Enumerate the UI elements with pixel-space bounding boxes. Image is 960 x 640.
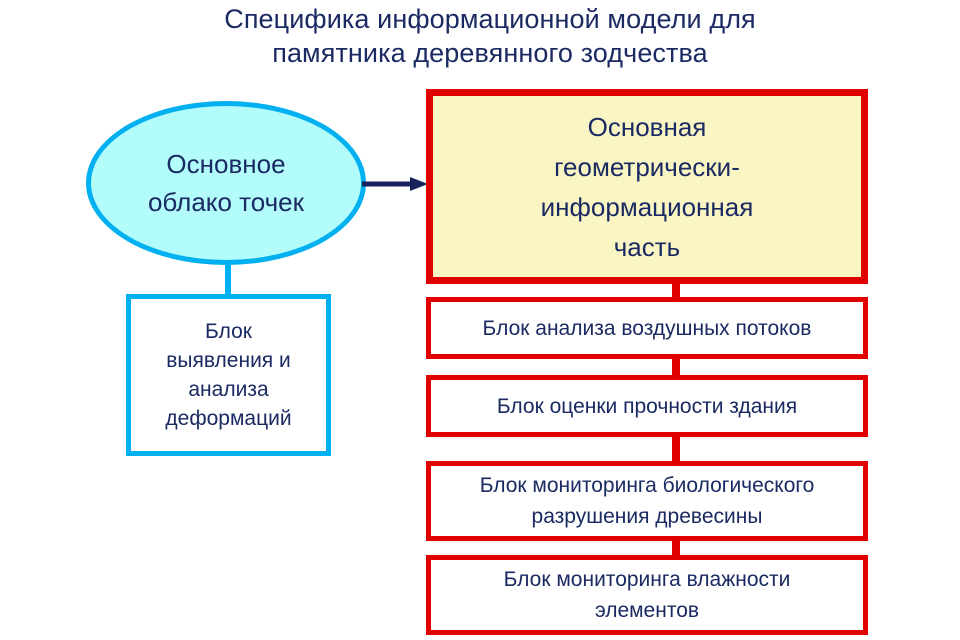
page-title-line-2: памятника деревянного зодчества <box>150 36 830 70</box>
node-humidity-monitoring-block: Блок мониторинга влажности элементов <box>426 555 868 635</box>
node-air-flow-line-1: Блок анализа воздушных потоков <box>483 313 812 344</box>
node-building-strength-block: Блок оценки прочности здания <box>426 375 868 437</box>
node-building-strength-line-1: Блок оценки прочности здания <box>497 391 797 422</box>
node-biological-decay-line-2: разрушения древесины <box>480 501 815 532</box>
node-main-line-4: часть <box>541 227 754 267</box>
node-deformation-line-1: Блок <box>165 317 291 346</box>
node-humidity-monitoring-label: Блок мониторинга влажности элементов <box>504 564 791 626</box>
node-point-cloud-ellipse: Основное облако точек <box>86 101 366 265</box>
node-main-line-2: геометрически- <box>541 147 754 187</box>
node-biological-decay-line-1: Блок мониторинга биологического <box>480 470 815 501</box>
node-point-cloud-label: Основное облако точек <box>134 145 318 221</box>
node-biological-decay-block: Блок мониторинга биологического разрушен… <box>426 461 868 541</box>
node-point-cloud-line-1: Основное <box>148 145 304 183</box>
page-title-line-1: Специфика информационной модели для <box>150 2 830 36</box>
connector-ellipse-to-blue-box <box>225 263 231 296</box>
node-humidity-monitoring-line-2: элементов <box>504 595 791 626</box>
node-deformation-line-3: анализа <box>165 375 291 404</box>
diagram-canvas: Специфика информационной модели для памя… <box>0 0 960 640</box>
node-main-line-3: информационная <box>541 187 754 227</box>
node-humidity-monitoring-line-1: Блок мониторинга влажности <box>504 564 791 595</box>
arrow-point-cloud-to-main <box>362 176 428 192</box>
node-biological-decay-label: Блок мониторинга биологического разрушен… <box>480 470 815 532</box>
node-point-cloud-line-2: облако точек <box>148 183 304 221</box>
node-main-geometric-information-part: Основная геометрически- информационная ч… <box>426 89 868 284</box>
node-deformation-label: Блок выявления и анализа деформаций <box>165 317 291 433</box>
node-air-flow-analysis-block: Блок анализа воздушных потоков <box>426 297 868 359</box>
page-title: Специфика информационной модели для памя… <box>150 2 830 70</box>
node-main-line-1: Основная <box>541 107 754 147</box>
connector-sub-2-to-sub-3 <box>672 434 680 463</box>
node-main-label: Основная геометрически- информационная ч… <box>541 107 754 267</box>
node-deformation-line-2: выявления и <box>165 346 291 375</box>
node-deformation-line-4: деформаций <box>165 404 291 433</box>
connector-sub-1-to-sub-2 <box>672 356 680 377</box>
node-deformation-analysis-block: Блок выявления и анализа деформаций <box>126 294 331 456</box>
node-air-flow-label: Блок анализа воздушных потоков <box>483 313 812 344</box>
node-building-strength-label: Блок оценки прочности здания <box>497 391 797 422</box>
